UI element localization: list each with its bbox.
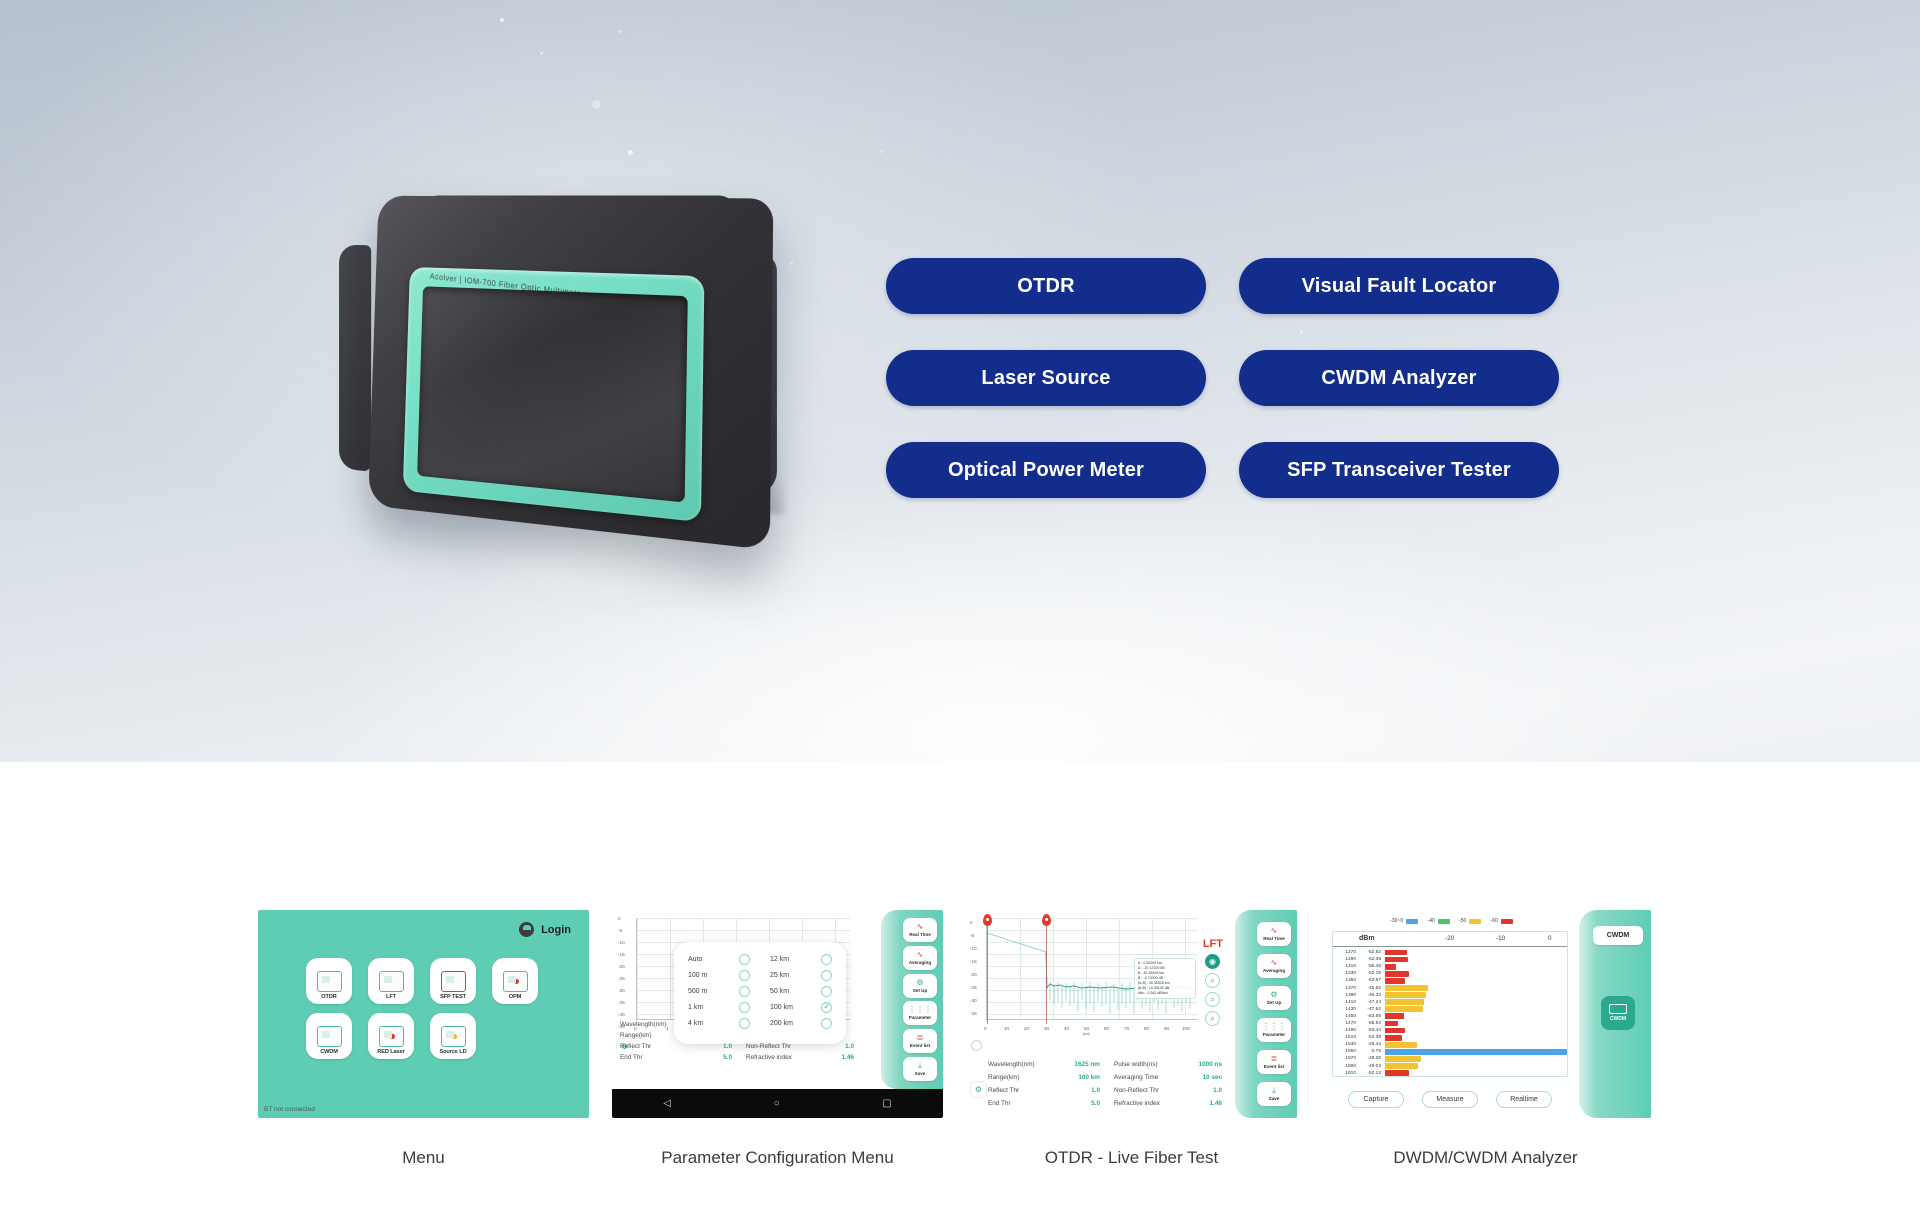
sidebar-button-parameter[interactable]: ⋮⋮⋮ Parameter <box>903 1001 937 1025</box>
range-option-label: 100 m <box>688 972 726 979</box>
bar-value-label: -49.03 <box>1359 1064 1385 1069</box>
app-tile-label: SFP TEST <box>440 994 466 1000</box>
bar-wavelength-label: 1390 <box>1333 993 1359 998</box>
table-row: Wavelength(nm) 1625 nm Pulse width(ns) 1… <box>988 1058 1228 1071</box>
cwdm-action-buttons: Capture Measure Realtime <box>1348 1091 1552 1108</box>
bar-wavelength-label: 1610 <box>1333 1071 1359 1076</box>
measurement-info-box: A : 0.00000 km A : -20.12100 dB B : 30.3… <box>1134 958 1196 999</box>
device-body: Acolver | IOM-700 Fiber Optic Multimeter <box>368 196 773 550</box>
thumbnail-otdr-live-fiber-test[interactable]: 0 -5 -10 -15 -20 -25 -30 -35 0 10 20 30 … <box>966 910 1297 1168</box>
legend-item: -50 <box>1459 918 1482 924</box>
thumbnail-caption: Parameter Configuration Menu <box>612 1148 943 1168</box>
sidebar-button-save[interactable]: ⤓ Save <box>1257 1082 1291 1106</box>
bluetooth-status: BT not connected <box>264 1106 315 1113</box>
sparkle-decoration <box>540 52 543 55</box>
param-value: 1.0 <box>1056 1087 1100 1094</box>
feature-button-otdr[interactable]: OTDR <box>886 258 1206 314</box>
bar-wavelength-label: 1450 <box>1333 1014 1359 1019</box>
marker-b-icon[interactable] <box>1042 914 1051 926</box>
param-key: Pulse width(ns) <box>1100 1061 1178 1068</box>
zoom-out-icon[interactable]: ⌕ <box>1205 1011 1220 1026</box>
chart-bar-row: 1570-48.26 <box>1333 1055 1567 1062</box>
chart-bar-row: 1350-53.57 <box>1333 977 1567 984</box>
bar-fill <box>1385 1070 1409 1076</box>
sidebar-button-label: Event list <box>910 1043 930 1048</box>
setup-shortcut-button[interactable]: ⚙ <box>970 1081 987 1098</box>
app-tile-label: CWDM <box>320 1049 338 1055</box>
realtime-button[interactable]: Realtime <box>1496 1091 1552 1108</box>
bar-track <box>1385 1027 1567 1034</box>
bar-value-label: -47.24 <box>1359 1000 1385 1005</box>
param-value: 1.0 <box>810 1043 854 1050</box>
thumbnail-dwdm-cwdm-analyzer[interactable]: CWDM CWDM -30~0 -40 <box>1320 910 1651 1168</box>
legend-swatch <box>1406 919 1418 924</box>
chart-axis-header: dBm -20 -10 0 <box>1333 932 1567 947</box>
sparkle-decoration <box>618 30 621 33</box>
bar-track <box>1385 970 1567 977</box>
download-icon: ⤓ <box>918 1062 922 1070</box>
gear-icon: ⚙ <box>916 979 923 987</box>
chart-bar-row: 1430-47.62 <box>1333 1006 1567 1013</box>
app-tile-source-ld[interactable]: Source LD <box>430 1013 476 1059</box>
bar-fill <box>1385 999 1424 1005</box>
param-key: Non-Reflect Thr <box>732 1043 810 1050</box>
list-icon: ≣ <box>1271 1055 1278 1063</box>
table-row: Range(km) <box>620 1030 858 1041</box>
sidebar-button-label: Real Time <box>909 932 931 937</box>
sidebar-button-real-time[interactable]: ∿ Real Time <box>1257 922 1291 946</box>
bar-track <box>1385 977 1567 984</box>
sidebar-button-set-up[interactable]: ⚙ Set Up <box>1257 986 1291 1010</box>
cwdm-tab-button[interactable]: CWDM <box>1593 926 1643 945</box>
bar-value-label: -49.44 <box>1359 1042 1385 1047</box>
gear-icon: ⚙ <box>975 1086 982 1094</box>
waveform-icon: ∿ <box>917 923 924 931</box>
sliders-icon: ⋮⋮⋮ <box>1262 1023 1286 1031</box>
tool-sidebar: ∿ Real Time ∿ Averaging ⚙ Set Up <box>1235 910 1297 1118</box>
chart-bar-row: 1390-46.33 <box>1333 992 1567 999</box>
chart-bar-row: 1590-49.03 <box>1333 1063 1567 1070</box>
bar-track <box>1385 1063 1567 1070</box>
bar-fill <box>1385 992 1426 998</box>
bar-fill <box>1385 1063 1418 1069</box>
red-laser-icon <box>379 1026 404 1047</box>
app-tile-label: LFT <box>386 994 396 1000</box>
bar-fill <box>1385 964 1396 970</box>
param-value: 100 km <box>1056 1074 1100 1081</box>
range-option-label: Auto <box>688 956 726 963</box>
bar-wavelength-label: 1270 <box>1333 950 1359 955</box>
marker-b-line <box>1046 924 1047 1024</box>
otdr-trace-plot: 0 -5 -10 -15 -20 -25 -30 -35 0 10 20 30 … <box>970 916 1206 1034</box>
thumbnail-row: Login OTDR LFT SFP TEST <box>258 910 1651 1168</box>
bar-value-label: -45.82 <box>1359 986 1385 991</box>
thumbnail-image-otdr-live-fiber-test[interactable]: 0 -5 -10 -15 -20 -25 -30 -35 0 10 20 30 … <box>966 910 1297 1118</box>
legend-label: -30~0 <box>1390 918 1403 924</box>
param-value: 1625 nm <box>1056 1061 1100 1068</box>
legend-label: -40 <box>1427 918 1435 924</box>
bar-track <box>1385 956 1567 963</box>
range-option-label: 50 km <box>770 988 808 995</box>
user-avatar-icon <box>519 922 534 937</box>
table-row: Reflect Thr 1.0 Non-Reflect Thr 1.0 <box>988 1084 1228 1097</box>
app-tile-label: OTDR <box>321 994 336 1000</box>
bar-track <box>1385 1020 1567 1027</box>
capture-button[interactable]: Capture <box>1348 1091 1404 1108</box>
param-key: Range(km) <box>620 1032 688 1039</box>
bar-fill <box>1385 1006 1423 1012</box>
waveform-icon: ∿ <box>1271 927 1278 935</box>
sidebar-button-label: Save <box>1269 1096 1280 1101</box>
app-tile-grid: OTDR LFT SFP TEST OPM <box>306 958 546 1059</box>
measure-button[interactable]: Measure <box>1422 1091 1478 1108</box>
bar-value-label: 0.76 <box>1359 1049 1385 1054</box>
device-bezel <box>403 267 705 522</box>
zoom-in-icon[interactable]: ⌕ <box>1205 992 1220 1007</box>
bar-value-label: -53.44 <box>1359 1028 1385 1033</box>
chart-bar-row: 1490-53.44 <box>1333 1027 1567 1034</box>
location-pin-icon[interactable]: ◉ <box>1205 954 1220 969</box>
range-option-grid: Auto 12 km 100 m 25 km 500 m 50 k <box>688 954 832 1029</box>
range-option-checkbox[interactable] <box>821 986 832 997</box>
cwdm-icon-label: CWDM <box>1610 1016 1626 1022</box>
app-tile-label: RED Laser <box>377 1049 404 1055</box>
sidebar-button-label: Averaging <box>909 960 931 965</box>
sidebar-button-label: Event list <box>1264 1064 1284 1069</box>
bar-fill <box>1385 978 1405 984</box>
sidebar-button-event-list[interactable]: ≣ Event list <box>1257 1050 1291 1074</box>
sidebar-button-label: Set Up <box>1267 1000 1282 1005</box>
bar-fill <box>1385 1028 1405 1034</box>
legend-swatch <box>1501 919 1513 924</box>
axis-tick-label: 0 <box>1548 935 1552 942</box>
download-icon: ⤓ <box>1272 1087 1276 1095</box>
param-key: End Thr <box>988 1100 1056 1107</box>
feature-button-sfp-transceiver-tester[interactable]: SFP Transceiver Tester <box>1239 442 1559 498</box>
bar-value-label: -54.38 <box>1359 1035 1385 1040</box>
sidebar-button-parameter[interactable]: ⋮⋮⋮ Parameter <box>1257 1018 1291 1042</box>
app-tile-label: OPM <box>509 994 521 1000</box>
bar-value-label: -52.19 <box>1359 971 1385 976</box>
recents-icon[interactable]: ▢ <box>882 1098 891 1109</box>
param-value: 1.0 <box>1178 1087 1222 1094</box>
chart-bar-row: 1470-55.83 <box>1333 1020 1567 1027</box>
source-ld-icon <box>441 1026 466 1047</box>
marker-a-icon[interactable] <box>983 914 992 926</box>
bar-fill <box>1385 971 1409 977</box>
bar-value-label: -48.26 <box>1359 1056 1385 1061</box>
chart-bar-row: 15500.76 <box>1333 1048 1567 1055</box>
opm-icon <box>503 971 528 992</box>
chart-bar-row: 1530-49.44 <box>1333 1041 1567 1048</box>
bar-track <box>1385 1013 1567 1020</box>
bar-value-label: -53.57 <box>1359 978 1385 983</box>
param-key: Refractive index <box>732 1054 810 1061</box>
range-option-label: 1 km <box>688 1004 726 1011</box>
legend-item: -40 <box>1427 918 1450 924</box>
param-value: 1.0 <box>688 1043 732 1050</box>
home-icon[interactable]: ○ <box>774 1098 780 1109</box>
marker-a-line <box>987 924 988 1024</box>
bar-wavelength-label: 1350 <box>1333 978 1359 983</box>
bar-wavelength-label: 1290 <box>1333 957 1359 962</box>
chart-bar-row: 1410-47.24 <box>1333 999 1567 1006</box>
bar-fill <box>1385 957 1408 963</box>
bar-track <box>1385 949 1567 956</box>
sidebar-button-save[interactable]: ⤓ Save <box>903 1057 937 1081</box>
app-tile-lft[interactable]: LFT <box>368 958 414 1004</box>
sidebar-button-label: Save <box>915 1071 926 1076</box>
bar-value-label: -52.13 <box>1359 1071 1385 1076</box>
bar-value-label: -55.83 <box>1359 1021 1385 1026</box>
legend-swatch <box>1469 919 1481 924</box>
table-row: Range(km) 100 km Averaging Time 10 sec <box>988 1071 1228 1084</box>
sidebar-button-averaging[interactable]: ∿ Averaging <box>903 946 937 970</box>
sparkle-decoration <box>628 150 633 155</box>
bar-wavelength-label: 1550 <box>1333 1049 1359 1054</box>
chart-bar-row: 1610-52.13 <box>1333 1070 1567 1077</box>
device-touchscreen <box>417 286 688 502</box>
sidebar-button-label: Averaging <box>1263 968 1285 973</box>
sidebar-button-label: Set Up <box>913 988 928 993</box>
bar-wavelength-label: 1510 <box>1333 1035 1359 1040</box>
login-control[interactable]: Login <box>519 922 571 937</box>
param-value: 1.46 <box>1178 1100 1222 1107</box>
bar-fill <box>1385 950 1407 956</box>
cwdm-icon <box>317 1026 342 1047</box>
bar-fill <box>1385 1049 1567 1055</box>
bar-wavelength-label: 1410 <box>1333 1000 1359 1005</box>
thumbnail-caption: Menu <box>258 1148 589 1168</box>
back-icon[interactable]: ◁ <box>663 1098 671 1109</box>
sidebar-button-label: Parameter <box>909 1015 931 1020</box>
table-row: End Thr 5.0 Refractive index 1.46 <box>620 1052 858 1063</box>
param-key: Reflect Thr <box>988 1087 1056 1094</box>
feature-button-grid: OTDR Visual Fault Locator Laser Source C… <box>886 258 1559 498</box>
chart-bar-row: 1290-52.39 <box>1333 956 1567 963</box>
bar-wavelength-label: 1470 <box>1333 1021 1359 1026</box>
bar-track <box>1385 963 1567 970</box>
bar-wavelength-label: 1490 <box>1333 1028 1359 1033</box>
brand-separator: | <box>459 274 462 284</box>
feature-button-cwdm-analyzer[interactable]: CWDM Analyzer <box>1239 350 1559 406</box>
bar-track <box>1385 984 1567 991</box>
sidebar-button-real-time[interactable]: ∿ Real Time <box>903 918 937 942</box>
table-row: Reflect Thr 1.0 Non-Reflect Thr 1.0 <box>620 1041 858 1052</box>
sparkle-decoration <box>880 150 883 153</box>
sidebar-button-event-list[interactable]: ≣ Event list <box>903 1029 937 1053</box>
device-left-bumper <box>339 245 371 472</box>
login-label: Login <box>541 924 571 936</box>
range-option-checkbox[interactable] <box>739 1002 750 1013</box>
bar-wavelength-label: 1370 <box>1333 986 1359 991</box>
legend-item: -60 <box>1490 918 1513 924</box>
legend-item: -30~0 <box>1390 918 1418 924</box>
range-option-checkbox[interactable] <box>739 954 750 965</box>
chart-bar-list: 1270-52.821290-52.391310-56.481330-52.19… <box>1333 947 1567 1077</box>
param-key: Averaging Time <box>1100 1074 1178 1081</box>
otdr-live-fiber-test-screen: 0 -5 -10 -15 -20 -25 -30 -35 0 10 20 30 … <box>966 910 1297 1118</box>
chart-bar-row: 1330-52.19 <box>1333 970 1567 977</box>
cwdm-bar-chart: dBm -20 -10 0 1270-52.821290-52.391310-5… <box>1332 931 1568 1077</box>
param-value: 1000 ns <box>1178 1061 1222 1068</box>
device-product-image: Acolver | IOM-700 Fiber Optic Multimeter <box>330 185 850 615</box>
chart-legend: -30~0 -40 -50 -60 <box>1390 918 1513 924</box>
chart-bar-row: 1370-45.82 <box>1333 984 1567 991</box>
chart-bar-row: 1310-56.48 <box>1333 963 1567 970</box>
bar-fill <box>1385 1042 1417 1048</box>
chart-bar-row: 1510-54.38 <box>1333 1034 1567 1041</box>
bar-value-label: -52.82 <box>1359 950 1385 955</box>
range-option-label: 100 km <box>770 1004 808 1011</box>
axis-tick-label: -20 <box>1445 935 1454 942</box>
thumbnail-image-dwdm-cwdm-analyzer[interactable]: CWDM CWDM -30~0 -40 <box>1320 910 1651 1118</box>
bar-track <box>1385 1070 1567 1077</box>
app-tile-red-laser[interactable]: RED Laser <box>368 1013 414 1059</box>
sfp-test-icon <box>441 971 466 992</box>
param-key: Range(km) <box>988 1074 1056 1081</box>
range-option-checkbox[interactable] <box>739 986 750 997</box>
bar-track <box>1385 1055 1567 1062</box>
bar-track <box>1385 1006 1567 1013</box>
param-value: 5.0 <box>1056 1100 1100 1107</box>
table-row: End Thr 5.0 Refractive index 1.46 <box>988 1097 1228 1110</box>
bar-wavelength-label: 1530 <box>1333 1042 1359 1047</box>
sidebar-button-averaging[interactable]: ∿ Averaging <box>1257 954 1291 978</box>
lft-mode-tag: LFT <box>1203 938 1223 950</box>
legend-swatch <box>1438 919 1450 924</box>
thumbnail-caption: OTDR - Live Fiber Test <box>966 1148 1297 1168</box>
cwdm-sidebar: CWDM CWDM <box>1579 910 1651 1118</box>
hero-section: Acolver | IOM-700 Fiber Optic Multimeter… <box>0 0 1920 762</box>
tool-sidebar: ∿ Real Time ∿ Averaging ⚙ Set Up <box>881 910 943 1089</box>
app-tile-opm[interactable]: OPM <box>492 958 538 1004</box>
app-tile-sfp-test[interactable]: SFP TEST <box>430 958 476 1004</box>
bar-track <box>1385 1048 1567 1055</box>
trace-toggle-icon[interactable] <box>971 1040 982 1051</box>
sparkle-decoration <box>500 18 504 22</box>
thumbnail-image-parameter-configuration[interactable]: 0 -5 -10 -15 -20 -25 -30 -35 -40 -45 0 1 <box>612 910 943 1118</box>
thumbnail-menu[interactable]: Login OTDR LFT SFP TEST <box>258 910 589 1168</box>
bar-track <box>1385 1041 1567 1048</box>
thumbnail-parameter-configuration[interactable]: 0 -5 -10 -15 -20 -25 -30 -35 -40 -45 0 1 <box>612 910 943 1168</box>
bar-fill <box>1385 985 1428 991</box>
range-option-checkbox[interactable] <box>821 954 832 965</box>
app-tile-cwdm[interactable]: CWDM <box>306 1013 352 1059</box>
android-navigation-bar: ◁ ○ ▢ <box>612 1089 943 1118</box>
bar-value-label: -56.48 <box>1359 964 1385 969</box>
range-option-checkbox[interactable] <box>739 970 750 981</box>
feature-button-visual-fault-locator[interactable]: Visual Fault Locator <box>1239 258 1559 314</box>
feature-button-optical-power-meter[interactable]: Optical Power Meter <box>886 442 1206 498</box>
bar-wavelength-label: 1590 <box>1333 1064 1359 1069</box>
bar-wavelength-label: 1310 <box>1333 964 1359 969</box>
axis-tick-label: -10 <box>1496 935 1505 942</box>
param-key: Wavelength(nm) <box>620 1021 688 1028</box>
bar-wavelength-label: 1330 <box>1333 971 1359 976</box>
thumbnail-caption: DWDM/CWDM Analyzer <box>1320 1148 1651 1168</box>
bar-fill <box>1385 1013 1404 1019</box>
bar-track <box>1385 999 1567 1006</box>
gear-icon: ⚙ <box>1270 991 1277 999</box>
cwdm-device-icon[interactable]: CWDM <box>1601 996 1635 1030</box>
sliders-icon: ⋮⋮⋮ <box>908 1006 932 1014</box>
lft-tower-icon <box>379 971 404 992</box>
parameter-configuration-screen: 0 -5 -10 -15 -20 -25 -30 -35 -40 -45 0 1 <box>612 910 943 1118</box>
table-row: Wavelength(nm) <box>620 1019 858 1030</box>
bar-value-label: -46.33 <box>1359 993 1385 998</box>
app-tile-label: Source LD <box>439 1049 466 1055</box>
bar-fill <box>1385 1056 1421 1062</box>
chart-unit-label: dBm <box>1359 935 1375 942</box>
param-key: End Thr <box>620 1054 688 1061</box>
bar-wavelength-label: 1570 <box>1333 1056 1359 1061</box>
bar-fill <box>1385 1021 1398 1027</box>
waveform-icon: ∿ <box>917 951 924 959</box>
chart-bar-row: 1450-53.69 <box>1333 1013 1567 1020</box>
range-option-label: 500 m <box>688 988 726 995</box>
range-option-checkbox[interactable] <box>821 970 832 981</box>
sparkle-decoration <box>592 100 601 109</box>
param-key: Non-Reflect Thr <box>1100 1087 1178 1094</box>
sidebar-button-label: Real Time <box>1263 936 1285 941</box>
bar-fill <box>1385 1035 1402 1041</box>
bar-value-label: -53.69 <box>1359 1014 1385 1019</box>
param-key: Refractive index <box>1100 1100 1178 1107</box>
bar-track <box>1385 992 1567 999</box>
zoom-icon[interactable]: ⌕ <box>1205 973 1220 988</box>
bar-value-label: -47.62 <box>1359 1007 1385 1012</box>
bar-wavelength-label: 1430 <box>1333 1007 1359 1012</box>
info-line: Attn : 0.342 dB/km <box>1138 991 1192 996</box>
range-option-label: 25 km <box>770 972 808 979</box>
param-value: 5.0 <box>688 1054 732 1061</box>
feature-button-laser-source[interactable]: Laser Source <box>886 350 1206 406</box>
param-key: Wavelength(nm) <box>988 1061 1056 1068</box>
cwdm-analyzer-screen: CWDM CWDM -30~0 -40 <box>1320 910 1651 1118</box>
parameter-readout-table: Wavelength(nm) Range(km) <box>620 1019 858 1063</box>
chart-bar-row: 1270-52.82 <box>1333 949 1567 956</box>
otdr-parameter-table: Wavelength(nm) 1625 nm Pulse width(ns) 1… <box>988 1058 1228 1110</box>
screenshot-gallery: Login OTDR LFT SFP TEST <box>0 762 1920 1229</box>
thumbnail-image-menu[interactable]: Login OTDR LFT SFP TEST <box>258 910 589 1118</box>
sidebar-button-label: Parameter <box>1263 1032 1285 1037</box>
param-key: Reflect Thr <box>620 1043 688 1050</box>
legend-label: -50 <box>1459 918 1467 924</box>
parameter-main-area: 0 -5 -10 -15 -20 -25 -30 -35 -40 -45 0 1 <box>612 910 943 1089</box>
list-icon: ≣ <box>917 1034 924 1042</box>
bar-value-label: -52.39 <box>1359 957 1385 962</box>
range-option-checkbox-selected[interactable] <box>821 1002 832 1013</box>
app-tile-otdr[interactable]: OTDR <box>306 958 352 1004</box>
waveform-icon: ∿ <box>1271 959 1278 967</box>
menu-screen: Login OTDR LFT SFP TEST <box>258 910 589 1118</box>
bar-track <box>1385 1034 1567 1041</box>
param-value: 10 sec <box>1178 1074 1222 1081</box>
legend-label: -60 <box>1490 918 1498 924</box>
range-option-label: 12 km <box>770 956 808 963</box>
otdr-icon <box>317 971 342 992</box>
param-value: 1.46 <box>810 1054 854 1061</box>
sidebar-button-set-up[interactable]: ⚙ Set Up <box>903 974 937 998</box>
